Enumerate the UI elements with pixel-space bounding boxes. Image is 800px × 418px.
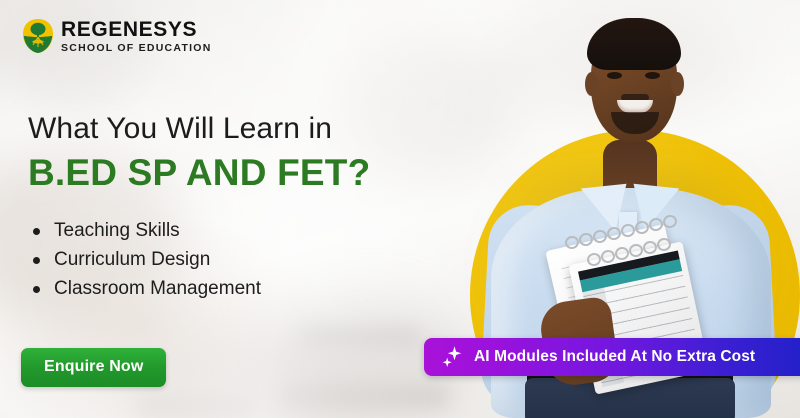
promo-banner: REGENESYS SCHOOL OF EDUCATION What You W…: [0, 0, 800, 418]
brand-tagline: SCHOOL OF EDUCATION: [61, 43, 212, 54]
photo-hair: [587, 18, 681, 70]
photo-eye-left: [607, 72, 622, 79]
ai-modules-badge[interactable]: AI Modules Included At No Extra Cost: [424, 338, 800, 376]
ai-badge-label: AI Modules Included At No Extra Cost: [474, 348, 755, 366]
headline-block: What You Will Learn in B.ED SP AND FET?: [28, 112, 498, 194]
list-item: Teaching Skills: [30, 217, 261, 246]
brand-name: REGENESYS: [61, 19, 212, 40]
headline-primary: What You Will Learn in: [28, 112, 498, 146]
enquire-now-button[interactable]: Enquire Now: [21, 348, 166, 387]
benefits-list: Teaching Skills Curriculum Design Classr…: [30, 217, 261, 304]
headline-emphasis: B.ED SP AND FET?: [28, 151, 498, 195]
sparkles-icon: [438, 344, 464, 370]
background-shelf: [280, 386, 450, 408]
regenesys-tree-shield-icon: [22, 18, 54, 54]
logo-wordmark: REGENESYS SCHOOL OF EDUCATION: [61, 19, 212, 54]
photo-ear-left: [585, 72, 598, 96]
brand-logo[interactable]: REGENESYS SCHOOL OF EDUCATION: [22, 18, 212, 54]
photo-eye-right: [645, 72, 660, 79]
list-item: Curriculum Design: [30, 246, 261, 275]
photo-ear-right: [671, 72, 684, 96]
background-shelf: [138, 398, 258, 418]
list-item: Classroom Management: [30, 275, 261, 304]
background-shelf: [300, 328, 420, 346]
